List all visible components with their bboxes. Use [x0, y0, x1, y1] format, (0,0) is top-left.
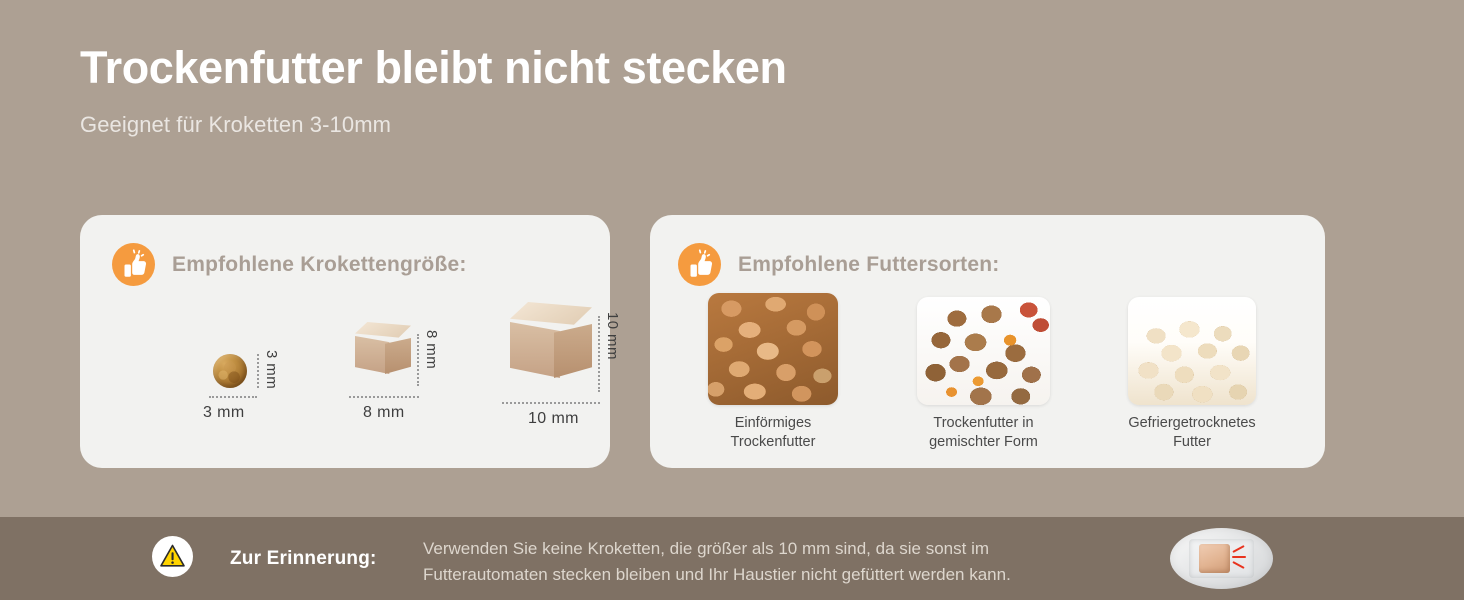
cube-kibble-shape-10mm [510, 302, 592, 378]
thumbs-up-icon [678, 243, 721, 286]
height-label-3mm: 3 mm [263, 350, 280, 389]
page-title: Trockenfutter bleibt nicht stecken [80, 44, 1180, 93]
width-label-3mm: 3 mm [203, 404, 245, 422]
width-label-8mm: 8 mm [363, 404, 405, 422]
height-label-10mm: 10 mm [604, 312, 621, 360]
recommended-types-heading: Empfohlene Futtersorten: [738, 253, 999, 277]
round-kibble-shape [213, 354, 247, 388]
recommended-size-card: Empfohlene Krokettengröße: 3 mm 3 mm [80, 215, 610, 468]
food-type-uniform[interactable]: Einförmiges Trockenfutter [708, 293, 838, 453]
warning-text: Verwenden Sie keine Kroketten, die größe… [423, 536, 1113, 588]
food-type-caption: Trockenfutter in gemischter Form [917, 414, 1050, 453]
warning-label: Zur Erinnerung: [230, 548, 377, 570]
recommended-types-header: Empfohlene Futtersorten: [678, 243, 999, 286]
specimen-8mm: 8 mm 8 mm [355, 322, 415, 388]
food-type-caption: Einförmiges Trockenfutter [708, 414, 838, 453]
width-label-10mm: 10 mm [528, 410, 579, 428]
recommended-size-heading: Empfohlene Krokettengröße: [172, 253, 467, 277]
header: Trockenfutter bleibt nicht stecken Geeig… [80, 44, 1180, 138]
height-guide-10mm [598, 316, 600, 392]
mixed-dry-food-photo [917, 297, 1050, 405]
recommended-size-header: Empfohlene Krokettengröße: [112, 243, 467, 286]
width-guide-10mm [502, 402, 600, 404]
specimen-10mm: 10 mm 10 mm [510, 302, 600, 394]
width-guide-8mm [349, 396, 419, 398]
promo-banner: Trockenfutter bleibt nicht stecken Geeig… [0, 0, 1464, 600]
cube-right-face [554, 324, 592, 378]
food-type-mixed[interactable]: Trockenfutter in gemischter Form [917, 297, 1050, 453]
height-label-8mm: 8 mm [423, 330, 440, 369]
height-guide-8mm [417, 334, 419, 386]
specimen-3mm: 3 mm 3 mm [213, 344, 253, 388]
jam-indicator-icon [1232, 546, 1255, 570]
width-guide-3mm [209, 396, 257, 398]
height-guide-3mm [257, 354, 259, 388]
thumbs-up-icon [112, 243, 155, 286]
warning-triangle-icon [152, 536, 193, 577]
food-type-freeze-dried[interactable]: Gefriergetrocknetes Futter [1128, 297, 1256, 453]
page-subtitle: Geeignet für Kroketten 3-10mm [80, 112, 1180, 138]
jammed-kibble-in-feeder-photo [1170, 528, 1273, 589]
cube-right-face [385, 338, 411, 374]
recommended-types-card: Empfohlene Futtersorten: Einförmiges Tro… [650, 215, 1325, 468]
food-type-caption: Gefriergetrocknetes Futter [1128, 414, 1256, 453]
freeze-dried-food-photo [1128, 297, 1256, 405]
uniform-dry-food-photo [708, 293, 838, 405]
stuck-kibble [1199, 544, 1230, 573]
cube-kibble-shape-8mm [355, 322, 411, 374]
kibble-size-specimens: 3 mm 3 mm 8 mm 8 mm [80, 320, 610, 460]
